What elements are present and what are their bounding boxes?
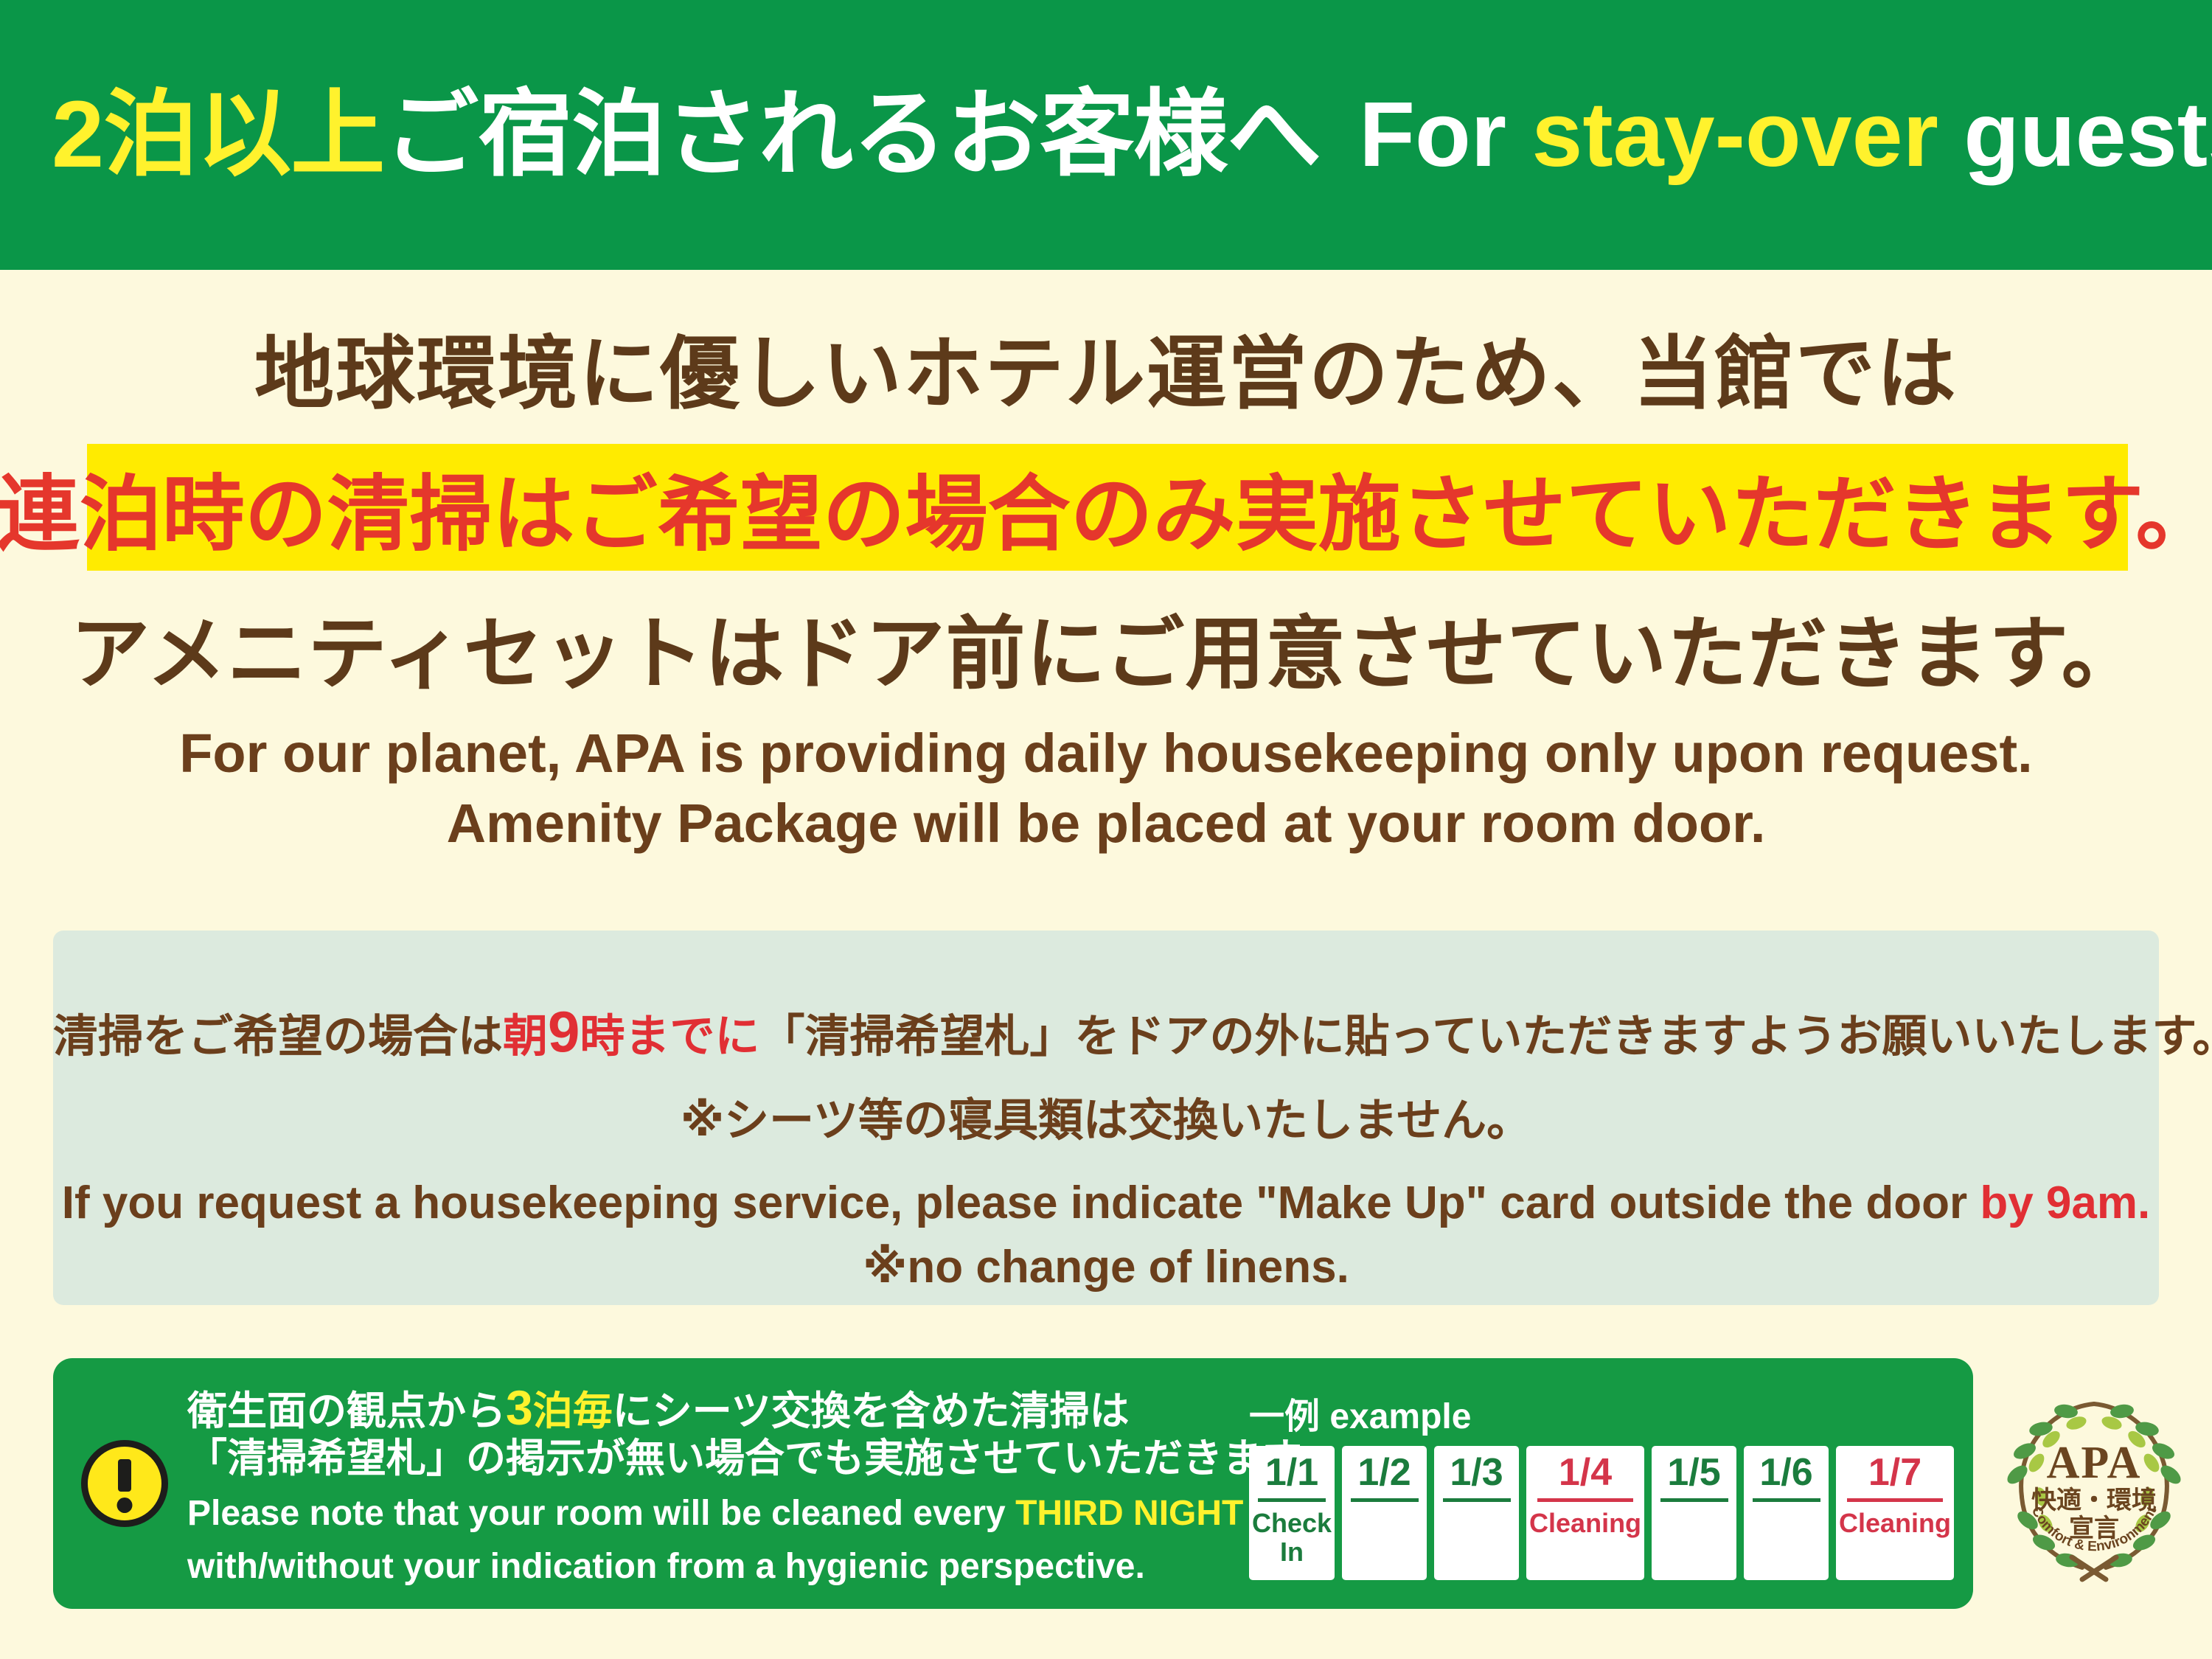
exclamation-warning-icon: [81, 1440, 168, 1527]
calendar-card-date: 1/3: [1450, 1449, 1503, 1498]
hygiene-jp-1-num: 3: [506, 1380, 533, 1435]
calendar-card: 1/5: [1652, 1446, 1736, 1580]
calendar-card-divider: [1753, 1498, 1820, 1502]
hygiene-jp-line-2: 「清掃希望札」の掲示が無い場合でも実施させていただきます。: [187, 1436, 1234, 1482]
hygiene-en-line-1: Please note that your room will be clean…: [187, 1492, 1234, 1535]
header-en-suffix: guests: [1938, 84, 2212, 186]
calendar-card: 1/4 Cleaning: [1526, 1446, 1644, 1580]
calendar-row: 1/1 CheckIn 1/2 1/3 1/4 Cleani: [1249, 1446, 1954, 1580]
request-instruction-box: 清掃をご希望の場合は朝9時までに「清掃希望札」をドアの外に貼っていただきますよう…: [53, 931, 2159, 1305]
hygiene-en-line-2: with/without your indication from a hygi…: [187, 1545, 1234, 1588]
hygiene-notice-text: 衛生面の観点から3泊毎にシーツ交換を含めた清掃は 「清掃希望札」の掲示が無い場合…: [187, 1380, 1234, 1587]
calendar-card-date: 1/6: [1759, 1449, 1812, 1498]
hygiene-en-1-highlight: THIRD NIGHT: [1015, 1494, 1243, 1533]
example-calendar: 一例 example 1/1 CheckIn 1/2 1/3: [1234, 1387, 1973, 1580]
highlight-banner: 連泊時の清掃はご希望の場合のみ実施させていただきます。: [87, 444, 2128, 571]
header-jp-highlight: 2泊以上: [52, 82, 384, 187]
request-jp-line-2: ※シーツ等の寝具類は交換いたしません。: [53, 1083, 2159, 1149]
request-en-line-2: ※no change of linens.: [53, 1239, 2159, 1293]
calendar-card-date: 1/1: [1265, 1449, 1318, 1498]
amenity-jp-line: アメニティセットはドア前にご用意させていただきます。: [0, 590, 2212, 705]
request-jp-1b: 「清掃希望札」をドアの外に貼っていただきますようお願いいたします。: [759, 1011, 2212, 1061]
calendar-card: 1/2: [1342, 1446, 1427, 1580]
hygiene-jp-1-highlight: 3泊毎: [506, 1389, 613, 1433]
intro-en-line-2: Amenity Package will be placed at your r…: [0, 789, 2212, 859]
hygiene-en-1a: Please note that your room will be clean…: [187, 1494, 1015, 1533]
calendar-card-note: CheckIn: [1252, 1509, 1332, 1567]
highlight-banner-text: 連泊時の清掃はご希望の場合のみ実施させていただきます。: [0, 448, 2212, 567]
calendar-card: 1/3: [1434, 1446, 1519, 1580]
svg-text:APA: APA: [2047, 1438, 2142, 1488]
request-jp-1a: 清掃をご希望の場合は: [53, 1011, 503, 1061]
calendar-card-note: Cleaning: [1529, 1509, 1641, 1538]
header-en-highlight: stay-over: [1531, 84, 1938, 186]
calendar-card: 1/1 CheckIn: [1249, 1446, 1335, 1580]
request-jp-1-hour: 9: [548, 999, 580, 1064]
request-jp-1-time: 朝9時までに: [503, 1011, 759, 1061]
hygiene-jp-1-unit: 泊毎: [533, 1389, 613, 1433]
request-jp-1-made: 時までに: [580, 1011, 759, 1061]
apa-logo-icon: APA 快適・環境 宣言 Comfort & Environment: [1995, 1386, 2193, 1584]
poster-root: 2泊以上ご宿泊されるお客様へ For stay-over guests 地球環境…: [0, 0, 2212, 1659]
calendar-card-divider: [1660, 1498, 1728, 1502]
calendar-card: 1/6: [1744, 1446, 1829, 1580]
hygiene-jp-line-1: 衛生面の観点から3泊毎にシーツ交換を含めた清掃は: [187, 1380, 1234, 1436]
request-en-1a: If you request a housekeeping service, p…: [62, 1178, 1980, 1228]
intro-en-paragraph: For our planet, APA is providing daily h…: [0, 719, 2212, 858]
calendar-card-divider: [1351, 1498, 1419, 1502]
calendar-card-date: 1/7: [1868, 1449, 1921, 1498]
hygiene-notice-box: 衛生面の観点から3泊毎にシーツ交換を含めた清掃は 「清掃希望札」の掲示が無い場合…: [53, 1358, 1973, 1609]
calendar-card-divider: [1847, 1498, 1944, 1502]
calendar-card-divider: [1537, 1498, 1634, 1502]
header-banner: 2泊以上ご宿泊されるお客様へ For stay-over guests: [0, 0, 2212, 270]
request-jp-1-asa: 朝: [503, 1011, 548, 1061]
header-jp-rest: ご宿泊されるお客様へ: [384, 82, 1321, 187]
apa-comfort-environment-logo: APA 快適・環境 宣言 Comfort & Environment: [1995, 1386, 2193, 1584]
header-en-title: For stay-over guests: [1359, 83, 2212, 187]
intro-jp-line: 地球環境に優しいホテル運営のため、当館では: [0, 310, 2212, 425]
calendar-card-date: 1/2: [1357, 1449, 1411, 1498]
calendar-card-divider: [1443, 1498, 1511, 1502]
calendar-card-date: 1/5: [1667, 1449, 1720, 1498]
header-en-prefix: For: [1359, 84, 1531, 186]
request-en-1-deadline: by 9am.: [1980, 1178, 2150, 1228]
hygiene-jp-1b: にシーツ交換を含めた清掃は: [613, 1389, 1130, 1433]
calendar-card-divider: [1258, 1498, 1326, 1502]
intro-en-line-1: For our planet, APA is providing daily h…: [0, 719, 2212, 789]
hygiene-jp-1a: 衛生面の観点から: [187, 1389, 506, 1433]
request-jp-line-1: 清掃をご希望の場合は朝9時までに「清掃希望札」をドアの外に貼っていただきますよう…: [53, 998, 2159, 1065]
request-en-line-1: If you request a housekeeping service, p…: [53, 1177, 2159, 1229]
calendar-card-note: Cleaning: [1839, 1509, 1951, 1538]
svg-text:快適・環境: 快適・環境: [2031, 1486, 2157, 1515]
calendar-card-date: 1/4: [1559, 1449, 1612, 1498]
calendar-card: 1/7 Cleaning: [1836, 1446, 1954, 1580]
page-title: 2泊以上ご宿泊されるお客様へ: [52, 88, 1321, 182]
calendar-label: 一例 example: [1249, 1387, 1954, 1439]
